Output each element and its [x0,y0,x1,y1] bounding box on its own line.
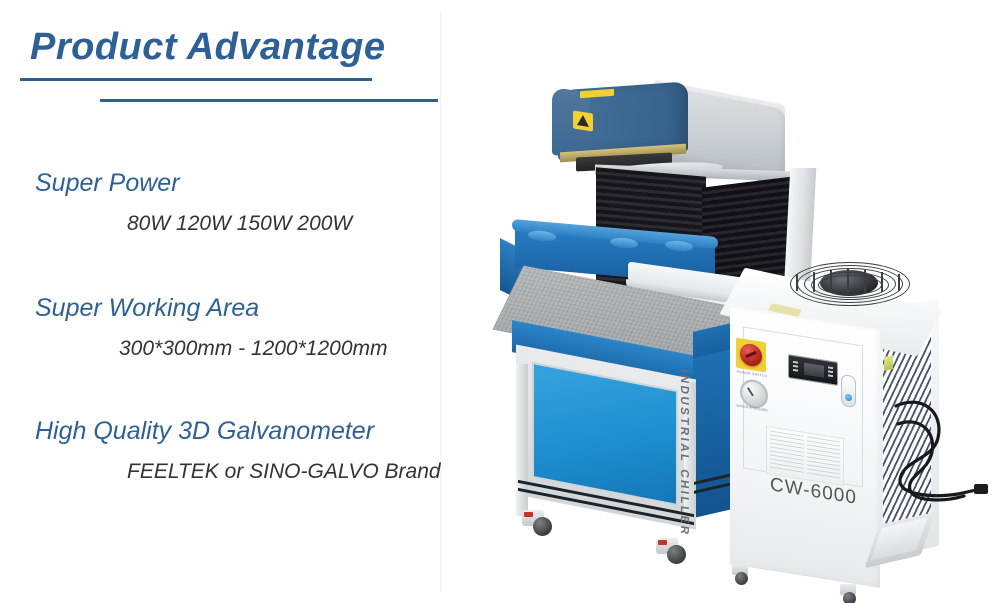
advantage-item-2: Super Working Area 300*300mm - 1200*1200… [35,295,388,360]
caster-brake-lever [658,540,667,545]
caster-brake-lever [524,512,533,517]
chiller-brand-text: INDUSTRIAL CHILLER [678,368,690,537]
advantage-heading: Super Power [35,170,352,198]
power-cable [892,398,1000,513]
product-advantage-banner: Product Advantage Super Power 80W 120W 1… [0,0,1000,603]
advantage-item-3: High Quality 3D Galvanometer FEELTEK or … [35,418,441,483]
laser-hazard-triangle-icon [573,110,593,131]
fan-guard-leg [830,270,832,293]
advantage-detail: 300*300mm - 1200*1200mm [119,337,388,360]
advantage-heading: High Quality 3D Galvanometer [35,418,441,446]
fan-guard-leg [796,274,798,291]
display-segments [804,363,824,378]
title-rule-lower [100,99,438,102]
fan-guard-leg [898,274,900,291]
display-right-keys [828,366,833,379]
product-photo: POWER SWITCH WATER PRESSURE CW-6000 INDU… [440,0,1000,603]
spec-column [807,436,841,481]
power-indicator-button[interactable] [841,374,856,408]
fan-guard-leg [864,270,866,293]
advantage-item-1: Super Power 80W 120W 150W 200W [35,170,352,235]
display-left-keys [793,361,798,374]
spec-column [770,430,804,475]
caster-wheel [667,545,686,564]
title-rule-upper [20,78,372,81]
advantage-heading: Super Working Area [35,295,388,323]
fan-guard-leg [813,272,815,292]
chiller-side-sticker [884,355,893,371]
advantage-detail: FEELTEK or SINO-GALVO Brand [127,460,441,483]
fan-guard-leg [847,268,849,294]
chiller-fan-guard [790,262,908,320]
fan-guard-ring [818,275,882,295]
page-title: Product Advantage [30,26,385,69]
caster-wheel [533,517,552,536]
advantage-detail: 80W 120W 150W 200W [127,212,352,235]
cabinet-post [516,364,528,516]
caster-wheel [843,592,856,603]
caster-wheel [735,572,748,585]
fan-guard-leg [881,272,883,292]
